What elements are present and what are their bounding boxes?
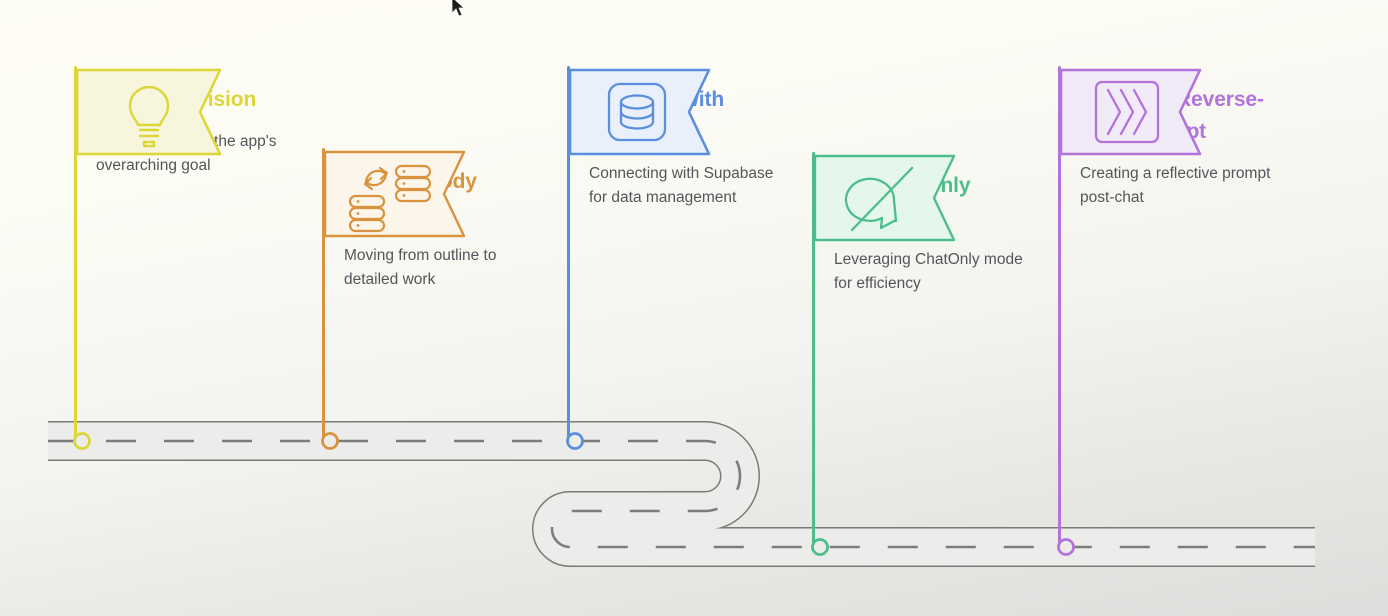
marker-establish-vision[interactable] xyxy=(75,434,90,449)
marker-shell-to-body-transition[interactable] xyxy=(323,434,338,449)
milestone-markers xyxy=(0,0,1388,616)
mouse-pointer-icon xyxy=(451,0,465,18)
roadmap-diagram: Establish Vision Set the stage for the a… xyxy=(0,0,1388,616)
marker-integrate-with-supabase[interactable] xyxy=(568,434,583,449)
marker-generate-reverse-meta-prompt[interactable] xyxy=(1059,540,1074,555)
marker-use-chatonly-mode[interactable] xyxy=(813,540,828,555)
